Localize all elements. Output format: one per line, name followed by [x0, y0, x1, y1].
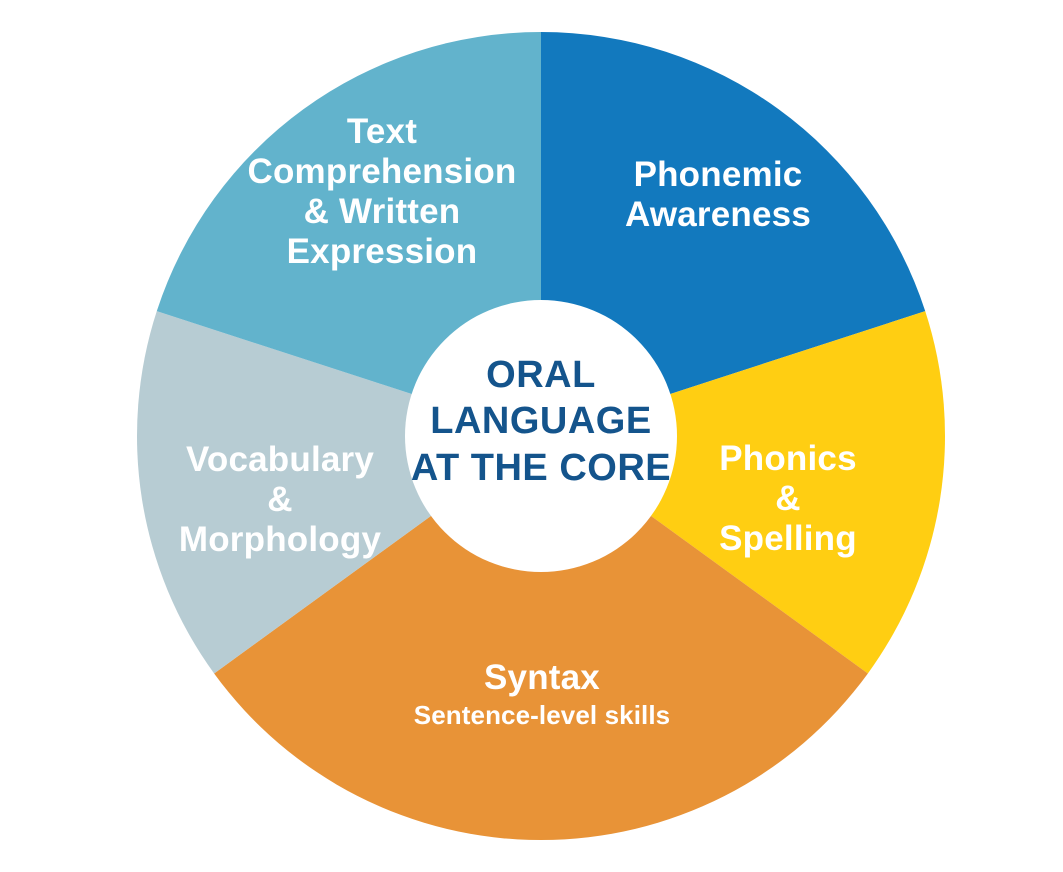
- hub-circle: [405, 300, 677, 572]
- oral-language-wheel-diagram: Phonemic Awareness Phonics & Spelling Sy…: [0, 0, 1063, 872]
- wheel-chart: [0, 0, 1063, 872]
